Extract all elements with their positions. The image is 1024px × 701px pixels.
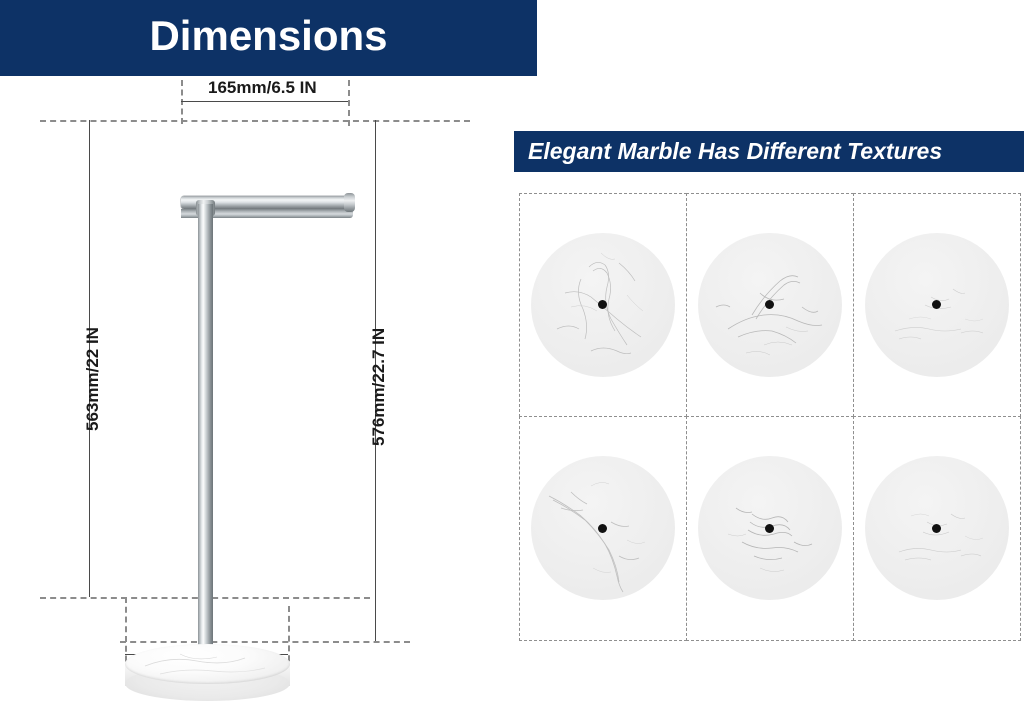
infographic-canvas: Dimensions 165mm/6.5 IN 563mm/22 IN 576m… — [0, 0, 1024, 681]
label-arm-width: 165mm/6.5 IN — [208, 78, 317, 98]
marble-swatch-2 — [698, 233, 842, 377]
marble-swatch-5 — [698, 456, 842, 600]
marble-swatch-3 — [865, 233, 1009, 377]
marble-swatch-1 — [531, 233, 675, 377]
texture-cell[interactable] — [853, 193, 1021, 418]
marble-texture-grid — [519, 193, 1020, 640]
guide-line-arm-top — [40, 120, 470, 122]
center-hole-marker — [765, 524, 774, 533]
holder-post — [198, 204, 213, 670]
dimensions-title-banner: Dimensions — [0, 0, 537, 76]
texture-cell[interactable] — [686, 416, 854, 641]
texture-cell[interactable] — [519, 416, 687, 641]
dimension-line-arm-width — [181, 101, 348, 102]
marble-swatch-4 — [531, 456, 675, 600]
texture-panel-title: Elegant Marble Has Different Textures — [514, 138, 942, 165]
guide-line-base-bottom — [120, 641, 410, 643]
center-hole-marker — [932, 524, 941, 533]
texture-cell[interactable] — [519, 193, 687, 418]
page-title: Dimensions — [149, 15, 387, 61]
texture-panel-header: Elegant Marble Has Different Textures — [514, 131, 1024, 172]
texture-cell[interactable] — [686, 193, 854, 418]
label-post-height: 563mm/22 IN — [83, 327, 103, 431]
center-hole-marker — [598, 524, 607, 533]
marble-base-veining — [125, 644, 290, 684]
marble-swatch-6 — [865, 456, 1009, 600]
marble-base-top — [125, 644, 290, 684]
tick-arm-left — [181, 80, 183, 124]
dimensions-diagram: 165mm/6.5 IN 563mm/22 IN 576mm/22.7 IN 1… — [0, 76, 500, 681]
label-total-height: 576mm/22.7 IN — [369, 328, 389, 446]
holder-arm-end-cap — [344, 193, 355, 212]
tick-arm-right — [348, 80, 350, 126]
texture-cell[interactable] — [853, 416, 1021, 641]
